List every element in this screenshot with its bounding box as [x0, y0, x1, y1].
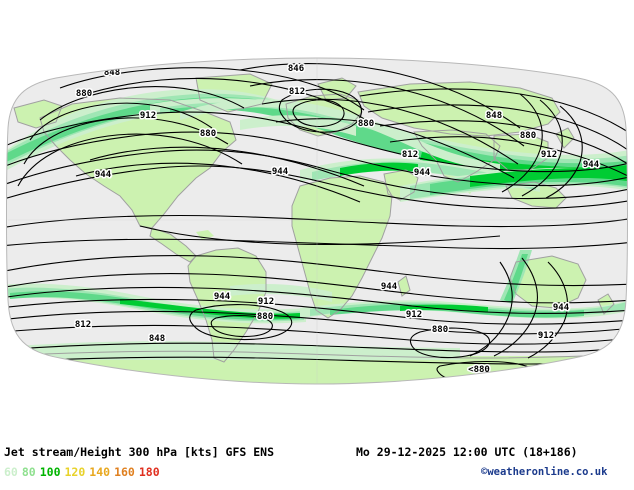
contour-label: 912 — [538, 331, 554, 341]
contour-label: 812 — [75, 320, 91, 330]
contour-label: 944 — [583, 160, 600, 170]
legend-value-60: 60 — [4, 465, 18, 479]
contour-label: 812 — [402, 150, 418, 160]
weather-map-page: 8488488808809129128808809449448468468128… — [0, 0, 634, 490]
contour-label: 880 — [76, 89, 92, 99]
contour-label: 944 — [553, 303, 570, 313]
legend-value-120: 120 — [65, 465, 86, 479]
contour-label: 944 — [214, 292, 231, 302]
contour-label: 880 — [358, 119, 374, 129]
contour-label: 880 — [200, 129, 216, 139]
contour-label: 812 — [289, 87, 305, 97]
contour-label: 944 — [381, 282, 398, 292]
contour-label: 944 — [414, 168, 431, 178]
map-canvas[interactable]: 8488488808809129128808809449448468468128… — [0, 0, 634, 440]
contour-label: 880 — [257, 312, 273, 322]
legend-value-160: 160 — [114, 465, 135, 479]
contour-label: 912 — [406, 310, 422, 320]
legend-value-180: 180 — [139, 465, 160, 479]
contour-label: 912 — [541, 150, 557, 160]
contour-label: 846 — [288, 64, 304, 74]
contour-label: 848 — [149, 334, 165, 344]
contour-label: 912 — [258, 297, 274, 307]
legend-value-80: 80 — [22, 465, 36, 479]
contour-label: 912 — [140, 111, 156, 121]
contour-label: 944 — [95, 170, 112, 180]
contour-label: 848 — [486, 111, 502, 121]
legend-value-140: 140 — [89, 465, 110, 479]
model-run-timestamp: Mo 29-12-2025 12:00 UTC (18+186) — [356, 445, 578, 459]
contour-label: 880 — [520, 131, 536, 141]
speed-legend[interactable]: 6080100120140160180 — [4, 465, 164, 479]
contour-label: 944 — [272, 167, 289, 177]
chart-title: Jet stream/Height 300 hPa [kts] GFS ENS — [4, 445, 274, 459]
legend-value-100: 100 — [40, 465, 61, 479]
footer-bar: Jet stream/Height 300 hPa [kts] GFS ENS … — [0, 440, 634, 490]
copyright-notice: ©weatheronline.co.uk — [481, 466, 607, 478]
world-map-svg[interactable]: 8488488808809129128808809449448468468128… — [0, 0, 634, 440]
contour-label: 880 — [432, 325, 448, 335]
